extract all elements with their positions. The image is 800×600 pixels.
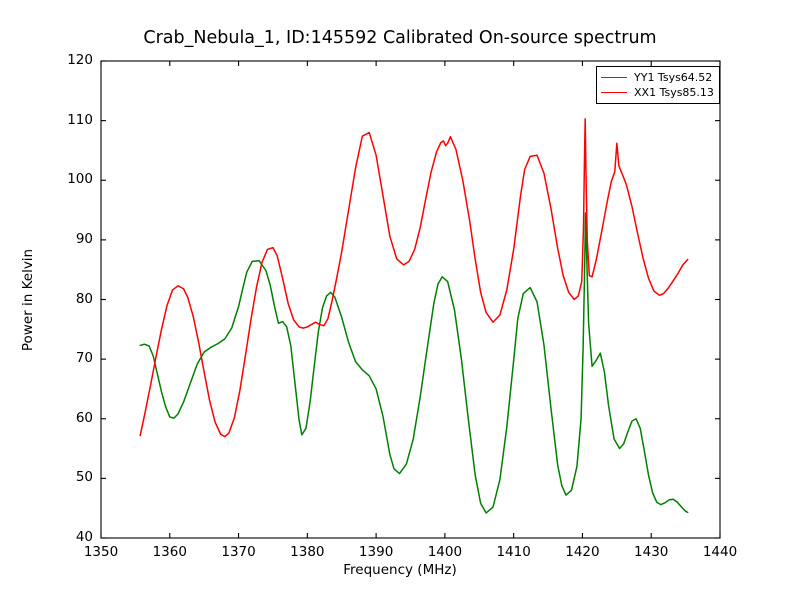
y-tick-label: 120 (43, 52, 93, 68)
x-tick-label: 1370 (209, 544, 269, 560)
y-tick-label: 70 (43, 350, 93, 366)
legend-label-xx1: XX1 Tsys85.13 (634, 86, 714, 99)
series-line-xx1 (140, 119, 687, 437)
series-lines (140, 119, 687, 513)
x-tick-label: 1410 (484, 544, 544, 560)
legend-swatch-xx1 (601, 92, 627, 93)
x-tick-label: 1420 (552, 544, 612, 560)
y-tick-label: 40 (43, 529, 93, 545)
legend: YY1 Tsys64.52 XX1 Tsys85.13 (596, 66, 720, 104)
x-tick-label: 1360 (140, 544, 200, 560)
y-tick-label: 60 (43, 410, 93, 426)
figure-canvas: Crab_Nebula_1, ID:145592 Calibrated On-s… (0, 0, 800, 600)
x-axis-label: Frequency (MHz) (0, 562, 800, 578)
legend-label-yy1: YY1 Tsys64.52 (634, 71, 712, 84)
series-line-yy1 (140, 213, 687, 513)
y-tick-label: 80 (43, 291, 93, 307)
x-tick-label: 1390 (346, 544, 406, 560)
x-tick-label: 1400 (415, 544, 475, 560)
y-tick-label: 100 (43, 171, 93, 187)
y-tick-label: 50 (43, 469, 93, 485)
y-tick-label: 90 (43, 231, 93, 247)
axes-frame (101, 61, 720, 538)
tick-marks (101, 61, 720, 538)
x-tick-label: 1380 (277, 544, 337, 560)
legend-entry-xx1: XX1 Tsys85.13 (601, 85, 714, 100)
x-tick-label: 1440 (690, 544, 750, 560)
legend-swatch-yy1 (601, 77, 627, 78)
legend-entry-yy1: YY1 Tsys64.52 (601, 70, 714, 85)
y-axis-label: Power in Kelvin (20, 210, 36, 390)
y-tick-label: 110 (43, 112, 93, 128)
x-tick-label: 1350 (71, 544, 131, 560)
x-tick-label: 1430 (621, 544, 681, 560)
